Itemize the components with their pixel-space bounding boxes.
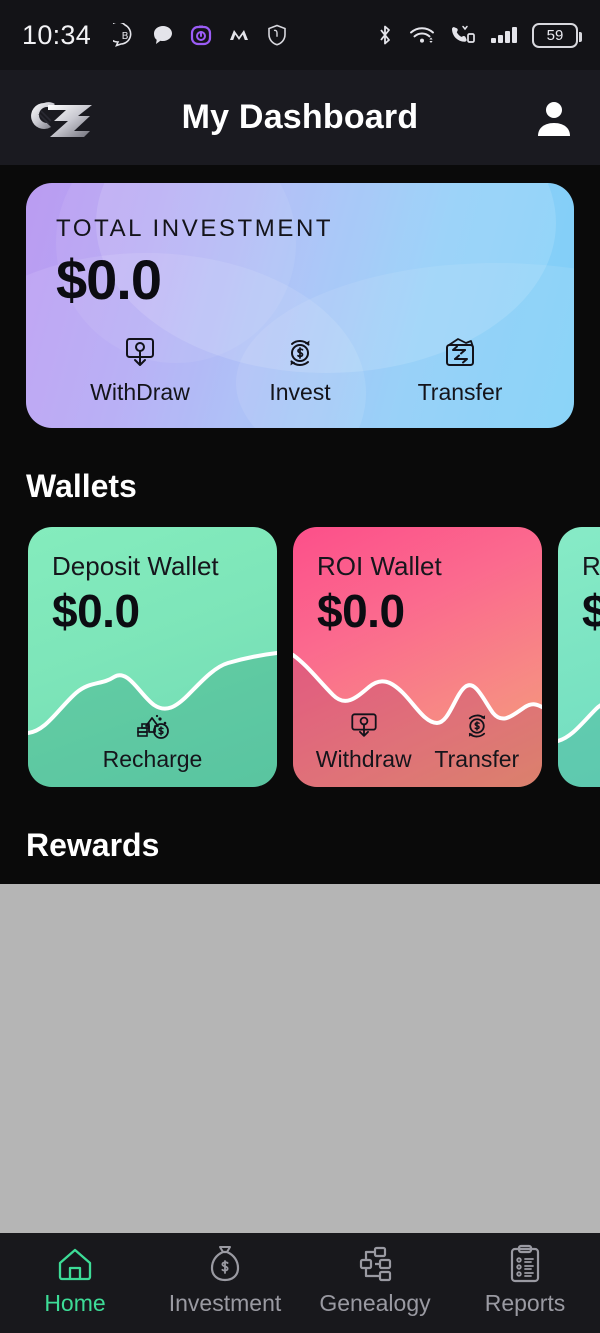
recharge-coins-up-icon — [130, 704, 174, 744]
total-investment-card[interactable]: TOTAL INVESTMENT $0.0 WithDraw — [26, 183, 574, 428]
wallets-section-title: Wallets — [26, 468, 600, 505]
invest-action[interactable]: Invest — [225, 333, 375, 406]
volte-call-icon — [448, 23, 476, 47]
status-time: 10:34 — [22, 20, 91, 51]
app-screen: 10:34 B — [0, 0, 600, 1333]
nav-item-home[interactable]: Home — [0, 1243, 150, 1317]
transfer-action-label: Transfer — [434, 746, 519, 773]
status-bar: 10:34 B — [0, 0, 600, 70]
rewards-placeholder — [0, 884, 600, 1233]
clipboard-list-icon — [504, 1243, 546, 1285]
nav-label-genealogy: Genealogy — [319, 1290, 430, 1317]
withdraw-action[interactable]: WithDraw — [65, 333, 215, 406]
withdraw-box-arrow-icon — [345, 708, 383, 744]
qz-logo — [24, 95, 96, 141]
signal-bars-icon — [489, 23, 519, 47]
home-icon — [54, 1243, 96, 1285]
wallet-name: ROI Wallet — [317, 551, 542, 582]
nav-item-reports[interactable]: Reports — [450, 1243, 600, 1317]
wallets-carousel[interactable]: Deposit Wallet $0.0 — [0, 505, 600, 787]
nav-label-home: Home — [44, 1290, 105, 1317]
status-system-icons: 59 — [374, 23, 578, 48]
org-tree-icon — [354, 1243, 396, 1285]
wallet-card-roi[interactable]: ROI Wallet $0.0 Withdraw — [293, 527, 542, 787]
recharge-action[interactable]: Recharge — [103, 704, 203, 773]
total-investment-label: TOTAL INVESTMENT — [56, 215, 574, 243]
wallet-card-deposit[interactable]: Deposit Wallet $0.0 — [28, 527, 277, 787]
rewards-section-title: Rewards — [26, 827, 600, 864]
nav-label-investment: Investment — [169, 1290, 282, 1317]
invest-action-label: Invest — [269, 379, 330, 406]
wallet-name: Re — [582, 551, 600, 582]
withdraw-action[interactable]: Withdraw — [316, 708, 412, 773]
wallet-amount: $0.0 — [52, 584, 277, 638]
withdraw-action-label: WithDraw — [90, 379, 190, 406]
withdraw-action-label: Withdraw — [316, 746, 412, 773]
wifi-icon — [409, 23, 435, 47]
transfer-action[interactable]: Transfer — [385, 333, 535, 406]
nav-item-genealogy[interactable]: Genealogy — [300, 1243, 450, 1317]
purple-app-icon — [189, 23, 213, 47]
dashboard-content: TOTAL INVESTMENT $0.0 WithDraw — [0, 165, 600, 1233]
m-logo-icon — [227, 23, 251, 47]
nav-label-reports: Reports — [485, 1290, 566, 1317]
transfer-action-label: Transfer — [418, 379, 503, 406]
invest-refresh-dollar-icon — [458, 708, 496, 744]
recharge-action-label: Recharge — [103, 746, 203, 773]
nav-item-investment[interactable]: Investment — [150, 1243, 300, 1317]
wallet-actions: Withdraw Transfer — [293, 708, 542, 773]
invest-refresh-dollar-icon — [280, 333, 320, 373]
money-bag-icon — [204, 1243, 246, 1285]
svg-text:B: B — [122, 31, 129, 42]
total-investment-value: $0.0 — [56, 247, 574, 312]
bitcoin-chat-icon: B — [113, 23, 137, 47]
wallet-card-partial[interactable]: Re $ W — [558, 527, 600, 787]
wallet-actions: W — [558, 708, 600, 773]
total-investment-actions: WithDraw Invest — [26, 333, 574, 406]
app-header: My Dashboard — [0, 70, 600, 165]
transfer-wallet-swap-icon — [440, 333, 480, 373]
wallet-amount: $ — [582, 584, 600, 638]
shield-icon — [265, 23, 289, 47]
wallet-actions: Recharge — [28, 704, 277, 773]
chat-bubble-icon — [151, 23, 175, 47]
battery-level: 59 — [547, 27, 564, 44]
wallet-name: Deposit Wallet — [52, 551, 277, 582]
bluetooth-icon — [374, 23, 396, 47]
wallet-amount: $0.0 — [317, 584, 542, 638]
status-notification-icons: B — [113, 23, 289, 47]
transfer-action[interactable]: Transfer — [434, 708, 519, 773]
battery-indicator: 59 — [532, 23, 578, 48]
bottom-navigation: Home Investment Genealogy — [0, 1233, 600, 1333]
withdraw-box-arrow-icon — [120, 333, 160, 373]
person-icon[interactable] — [532, 96, 576, 140]
